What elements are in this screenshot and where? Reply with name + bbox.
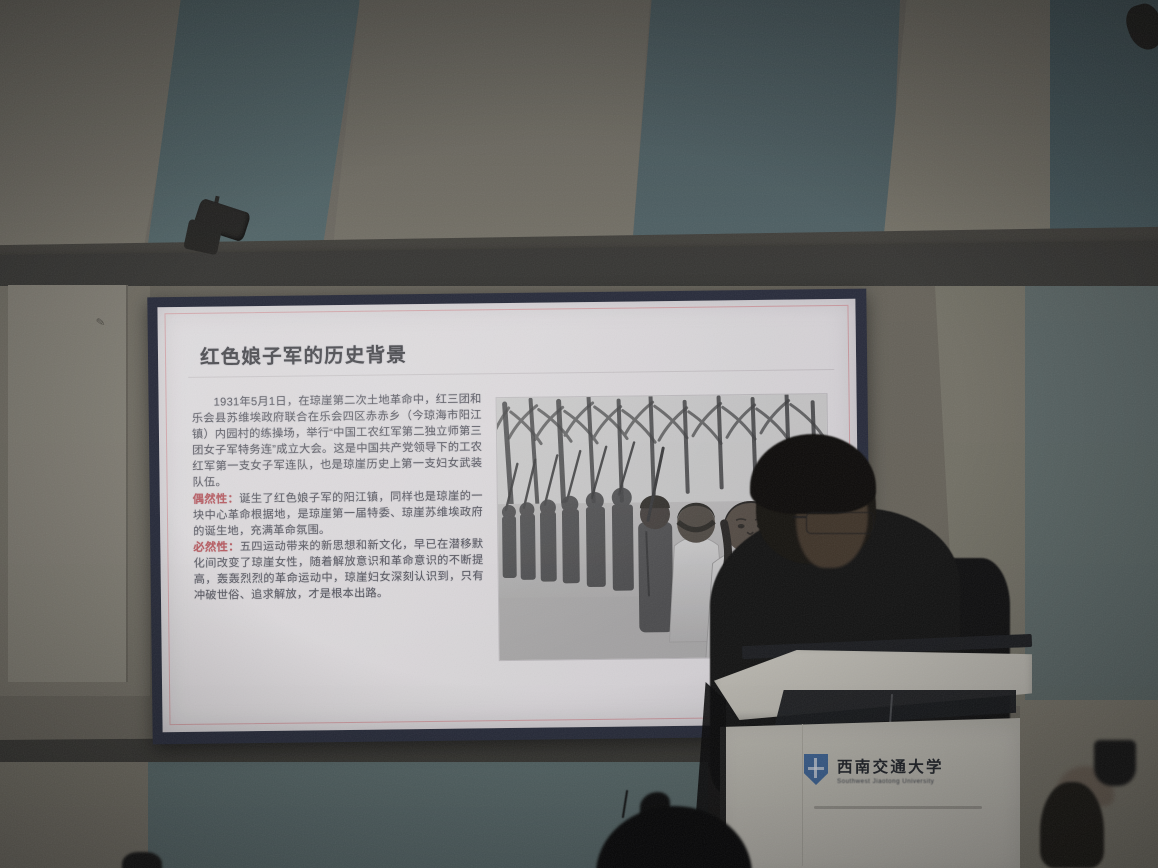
slide-title: 红色娘子军的历史背景	[200, 338, 407, 370]
university-branding: 西南交通大学 Southwest Jiaotong University	[804, 754, 944, 785]
audience-dark-object-right	[1094, 740, 1136, 786]
whiteboard-marks: ✎	[95, 315, 105, 329]
university-name-block: 西南交通大学 Southwest Jiaotong University	[837, 755, 944, 785]
glasses-icon	[806, 512, 874, 534]
lectern-panel-seam	[802, 724, 803, 866]
slide-paragraph-intro: 1931年5月1日，在琼崖第二次土地革命中，红三团和乐会县苏维埃政府联合在乐会四…	[191, 391, 482, 491]
university-shield-icon	[804, 754, 828, 785]
lectern-lower-slot	[814, 806, 982, 809]
university-name-cn: 西南交通大学	[837, 755, 944, 777]
lecture-hall-scene: ✎ 红色娘子军的历史背景 1931年5月1日，在琼崖第二次土地革命中，红三团和乐…	[0, 0, 1158, 868]
slide-label-contingency: 偶然性：	[193, 493, 240, 506]
university-name-en: Southwest Jiaotong University	[837, 778, 944, 785]
slide-title-divider	[188, 369, 834, 378]
audience-head-foreground-right	[1040, 782, 1104, 868]
slide-body-text: 1931年5月1日，在琼崖第二次土地革命中，红三团和乐会县苏维埃政府联合在乐会四…	[191, 391, 484, 604]
presenter-hair	[750, 434, 876, 514]
slide-paragraph-contingency: 偶然性：诞生了红色娘子军的阳江镇，同样也是琼崖的一块中心革命根据地，是琼崖第一届…	[193, 488, 484, 540]
whiteboard-panel	[8, 285, 128, 682]
audience-head-bottom-left	[122, 852, 162, 868]
slide-paragraph-inevitability: 必然性：五四运动带来的新思想和新文化，早已在潜移默化间改变了琼崖女性，随着解放意…	[193, 536, 484, 604]
wall-panel-beige-center	[320, 0, 650, 275]
slide-label-inevitability: 必然性：	[193, 541, 240, 554]
lectern: 西南交通大学 Southwest Jiaotong University	[692, 638, 1034, 868]
lower-wall-beige-bottom	[0, 762, 148, 868]
lectern-front-face	[720, 718, 1020, 868]
